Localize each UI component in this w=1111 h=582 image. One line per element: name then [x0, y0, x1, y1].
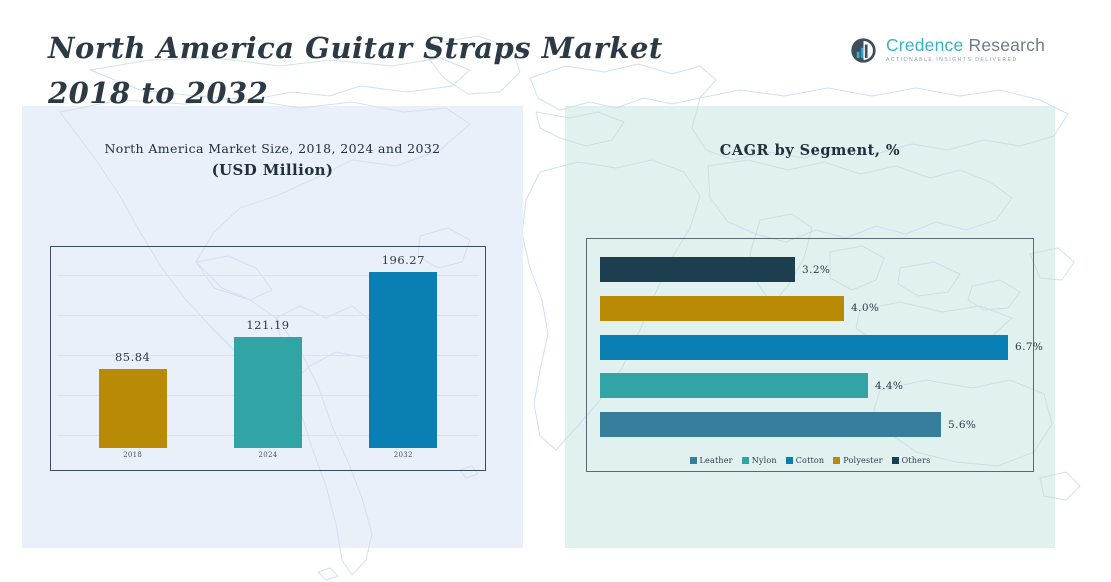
hbar-leather — [600, 412, 941, 437]
brand-name: Credence Research — [886, 36, 1045, 55]
cagr-bars: 3.2% 4.0% 6.7% 4.4% 5.6% — [600, 257, 1025, 437]
hbar-row-cotton: 6.7% — [600, 335, 1025, 360]
legend-swatch-icon — [892, 457, 899, 464]
bar-group-2024: 121.19 — [209, 253, 327, 448]
legend-swatch-icon — [786, 457, 793, 464]
page-title: North America Guitar Straps Market 2018 … — [48, 26, 748, 116]
x-tick-label: 2032 — [344, 451, 462, 465]
legend-item-leather[interactable]: Leather — [690, 456, 733, 465]
hbar-row-others: 3.2% — [600, 257, 1025, 282]
hbar-value-label: 4.4% — [875, 380, 903, 392]
legend-item-nylon[interactable]: Nylon — [742, 456, 777, 465]
cagr-legend: Leather Nylon Cotton Polyester Others — [587, 456, 1033, 465]
hbar-value-label: 5.6% — [948, 419, 976, 431]
hbar-row-polyester: 4.0% — [600, 296, 1025, 321]
legend-label: Polyester — [843, 456, 882, 465]
x-tick-label: 2018 — [74, 451, 192, 465]
bar-2024 — [234, 337, 302, 448]
brand-tagline: Actionable Insights Delivered — [886, 56, 1045, 64]
hbar-cotton — [600, 335, 1008, 360]
legend-item-polyester[interactable]: Polyester — [833, 456, 882, 465]
legend-swatch-icon — [833, 457, 840, 464]
hbar-row-nylon: 4.4% — [600, 373, 1025, 398]
hbar-row-leather: 5.6% — [600, 412, 1025, 437]
header: North America Guitar Straps Market 2018 … — [0, 0, 1111, 104]
brand-text: Credence Research Actionable Insights De… — [886, 36, 1045, 64]
legend-swatch-icon — [690, 457, 697, 464]
bar-group-2032: 196.27 — [344, 253, 462, 448]
market-size-plot-area: 85.84 121.19 196.27 2018 2024 2032 — [50, 246, 486, 471]
brand-name-secondary: Research — [963, 35, 1045, 55]
legend-item-cotton[interactable]: Cotton — [786, 456, 825, 465]
market-size-subtitle: (USD Million) — [22, 159, 523, 181]
cagr-chart-title: CAGR by Segment, % — [565, 140, 1055, 162]
bar-value-label: 196.27 — [382, 253, 425, 267]
bar-value-label: 121.19 — [246, 318, 289, 332]
bar-value-label: 85.84 — [115, 350, 150, 364]
hbar-value-label: 6.7% — [1015, 341, 1043, 353]
hbar-others — [600, 257, 795, 282]
cagr-plot-area: 3.2% 4.0% 6.7% 4.4% 5.6% Leather — [586, 238, 1034, 472]
bar-2018 — [99, 369, 167, 448]
legend-label: Leather — [700, 456, 733, 465]
hbar-value-label: 3.2% — [802, 264, 830, 276]
brand-logo: Credence Research Actionable Insights De… — [850, 36, 1045, 64]
legend-label: Others — [902, 456, 931, 465]
market-size-title-line: North America Market Size, 2018, 2024 an… — [22, 139, 523, 159]
market-size-chart-title: North America Market Size, 2018, 2024 an… — [22, 139, 523, 181]
bar-group-2018: 85.84 — [74, 253, 192, 448]
legend-item-others[interactable]: Others — [892, 456, 931, 465]
legend-label: Cotton — [796, 456, 825, 465]
infographic-canvas: North America Guitar Straps Market 2018 … — [0, 0, 1111, 582]
hbar-nylon — [600, 373, 868, 398]
hbar-polyester — [600, 296, 844, 321]
market-size-bars: 85.84 121.19 196.27 — [51, 253, 485, 448]
market-size-x-axis: 2018 2024 2032 — [51, 451, 485, 465]
legend-swatch-icon — [742, 457, 749, 464]
hbar-value-label: 4.0% — [851, 302, 879, 314]
bar-2032 — [369, 272, 437, 448]
x-tick-label: 2024 — [209, 451, 327, 465]
brand-name-primary: Credence — [886, 35, 963, 55]
legend-label: Nylon — [752, 456, 777, 465]
bar-chart-circle-icon — [850, 37, 877, 64]
